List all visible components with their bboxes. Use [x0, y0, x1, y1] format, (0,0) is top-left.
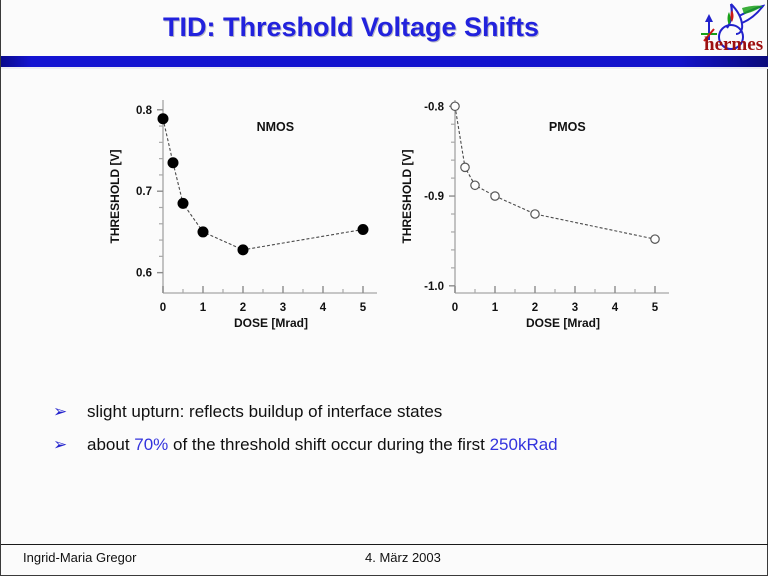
x-tick-label: 3	[572, 302, 578, 314]
data-point	[158, 114, 168, 124]
bullet-item: ➢slight upturn: reflects buildup of inte…	[1, 400, 768, 424]
title-accent-bar-shadow	[1, 67, 768, 69]
y-axis-title: THRESHOLD [V]	[400, 150, 414, 244]
x-tick-label: 4	[612, 302, 619, 314]
bullet-segment: about	[87, 435, 134, 454]
footer: Ingrid-Maria Gregor 4. März 2003	[1, 550, 768, 574]
y-tick-label: -0.9	[424, 191, 444, 203]
y-tick-label: -1.0	[424, 281, 444, 293]
bullet-highlight: 70%	[134, 435, 168, 454]
data-point	[491, 192, 499, 200]
x-tick-label: 1	[200, 302, 207, 314]
series-title: NMOS	[257, 120, 295, 134]
hermes-logo: hermes	[687, 0, 765, 56]
bullet-text: about 70% of the threshold shift occur d…	[87, 433, 558, 457]
logo-wordmark: hermes	[704, 34, 763, 55]
data-point	[178, 198, 188, 208]
x-tick-label: 1	[492, 302, 499, 314]
x-tick-label: 5	[652, 302, 659, 314]
x-tick-label: 2	[240, 302, 246, 314]
data-point	[358, 224, 368, 234]
x-axis-title: DOSE [Mrad]	[234, 316, 308, 330]
slide-canvas: TID: Threshold Voltage Shifts hermes	[0, 0, 768, 576]
footer-author: Ingrid-Maria Gregor	[23, 550, 136, 565]
chart-pmos: -1.0-0.9-0.8012345DOSE [Mrad]THRESHOLD […	[389, 78, 679, 363]
data-point	[168, 158, 178, 168]
y-axis-title: THRESHOLD [V]	[108, 150, 122, 244]
bullet-item: ➢about 70% of the threshold shift occur …	[1, 433, 768, 457]
data-point	[471, 181, 479, 189]
x-tick-label: 5	[360, 302, 367, 314]
bullet-segment: slight upturn: reflects buildup of inter…	[87, 402, 442, 421]
x-axis-title: DOSE [Mrad]	[526, 316, 600, 330]
charts-region: 0.60.70.8012345DOSE [Mrad]THRESHOLD [V]N…	[1, 78, 768, 363]
x-tick-label: 3	[280, 302, 286, 314]
y-tick-label: 0.8	[136, 105, 153, 117]
data-point	[651, 235, 659, 243]
data-line	[163, 119, 363, 250]
x-tick-label: 0	[160, 302, 166, 314]
chart-nmos-plot: 0.60.70.8012345DOSE [Mrad]THRESHOLD [V]N…	[97, 78, 387, 363]
x-tick-label: 2	[532, 302, 538, 314]
x-tick-label: 4	[320, 302, 327, 314]
data-point	[451, 102, 459, 110]
bullet-text: slight upturn: reflects buildup of inter…	[87, 400, 442, 424]
data-point	[198, 227, 208, 237]
bullet-arrow-icon: ➢	[53, 400, 87, 424]
bullet-segment: of the threshold shift occur during the …	[168, 435, 489, 454]
y-tick-label: 0.6	[136, 268, 152, 280]
title-accent-bar	[1, 56, 768, 67]
bullet-list: ➢slight upturn: reflects buildup of inte…	[1, 400, 768, 466]
bullet-highlight: 250kRad	[490, 435, 558, 454]
chart-nmos: 0.60.70.8012345DOSE [Mrad]THRESHOLD [V]N…	[97, 78, 387, 363]
footer-divider	[1, 544, 768, 545]
footer-date: 4. März 2003	[365, 550, 441, 565]
page-title: TID: Threshold Voltage Shifts	[1, 12, 701, 43]
bullet-arrow-icon: ➢	[53, 433, 87, 457]
data-point	[531, 210, 539, 218]
chart-pmos-plot: -1.0-0.9-0.8012345DOSE [Mrad]THRESHOLD […	[389, 78, 679, 363]
data-point	[461, 163, 469, 171]
y-tick-label: -0.8	[424, 101, 444, 113]
data-point	[238, 245, 248, 255]
x-tick-label: 0	[452, 302, 458, 314]
series-title: PMOS	[549, 120, 586, 134]
y-tick-label: 0.7	[136, 186, 152, 198]
